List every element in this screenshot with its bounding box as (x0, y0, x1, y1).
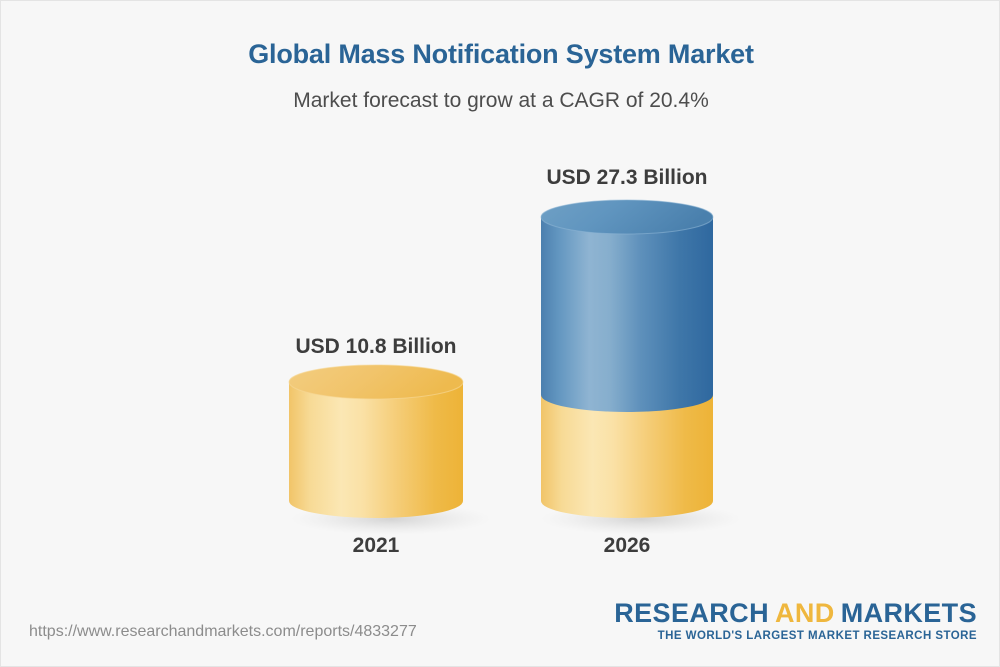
logo-wordmark: RESEARCHANDMARKETS (614, 599, 977, 627)
value-label-2021: USD 10.8 Billion (276, 335, 476, 359)
value-label-2026: USD 27.3 Billion (527, 166, 727, 190)
logo-tagline: THE WORLD'S LARGEST MARKET RESEARCH STOR… (614, 630, 977, 642)
category-label-2021: 2021 (276, 534, 476, 558)
cylinder-chart-plot (1, 1, 1000, 667)
brand-logo[interactable]: RESEARCHANDMARKETS THE WORLD'S LARGEST M… (614, 599, 977, 642)
bar-2021 (289, 365, 491, 535)
category-label-2026: 2026 (527, 534, 727, 558)
logo-word-markets: MARKETS (841, 598, 977, 628)
bar-2026 (541, 200, 741, 535)
source-url[interactable]: https://www.researchandmarkets.com/repor… (29, 623, 417, 641)
chart-canvas: Global Mass Notification System Market M… (0, 0, 1000, 667)
logo-word-research: RESEARCH (614, 598, 769, 628)
logo-word-and: AND (775, 598, 835, 628)
